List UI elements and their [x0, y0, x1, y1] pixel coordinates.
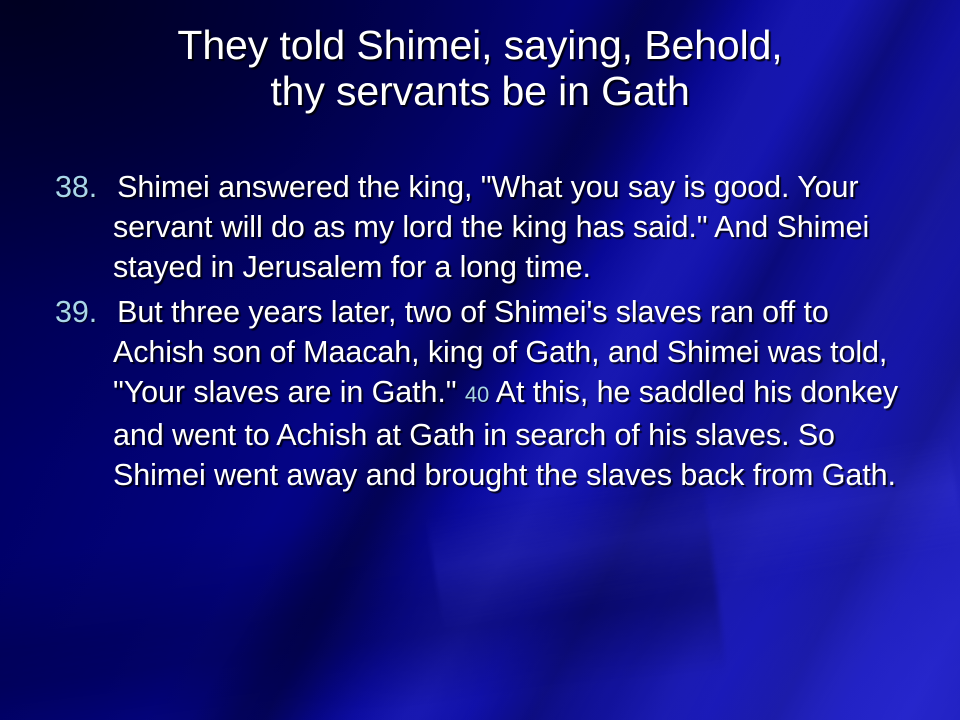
slide-body: 38.Shimei answered the king, "What you s… [55, 167, 915, 500]
verse-number-39: 39. [55, 295, 97, 329]
verse-number-38: 38. [55, 170, 97, 204]
presentation-slide: They told Shimei, saying, Behold, thy se… [0, 0, 960, 720]
verse-number-40-inline: 40 [465, 382, 489, 407]
slide-content: They told Shimei, saying, Behold, thy se… [0, 0, 960, 720]
slide-title: They told Shimei, saying, Behold, thy se… [48, 22, 912, 114]
verse-paragraph: 38.Shimei answered the king, "What you s… [55, 167, 915, 287]
verse-paragraph: 39.But three years later, two of Shimei'… [55, 292, 915, 495]
verse-text-38: Shimei answered the king, "What you say … [113, 170, 869, 284]
